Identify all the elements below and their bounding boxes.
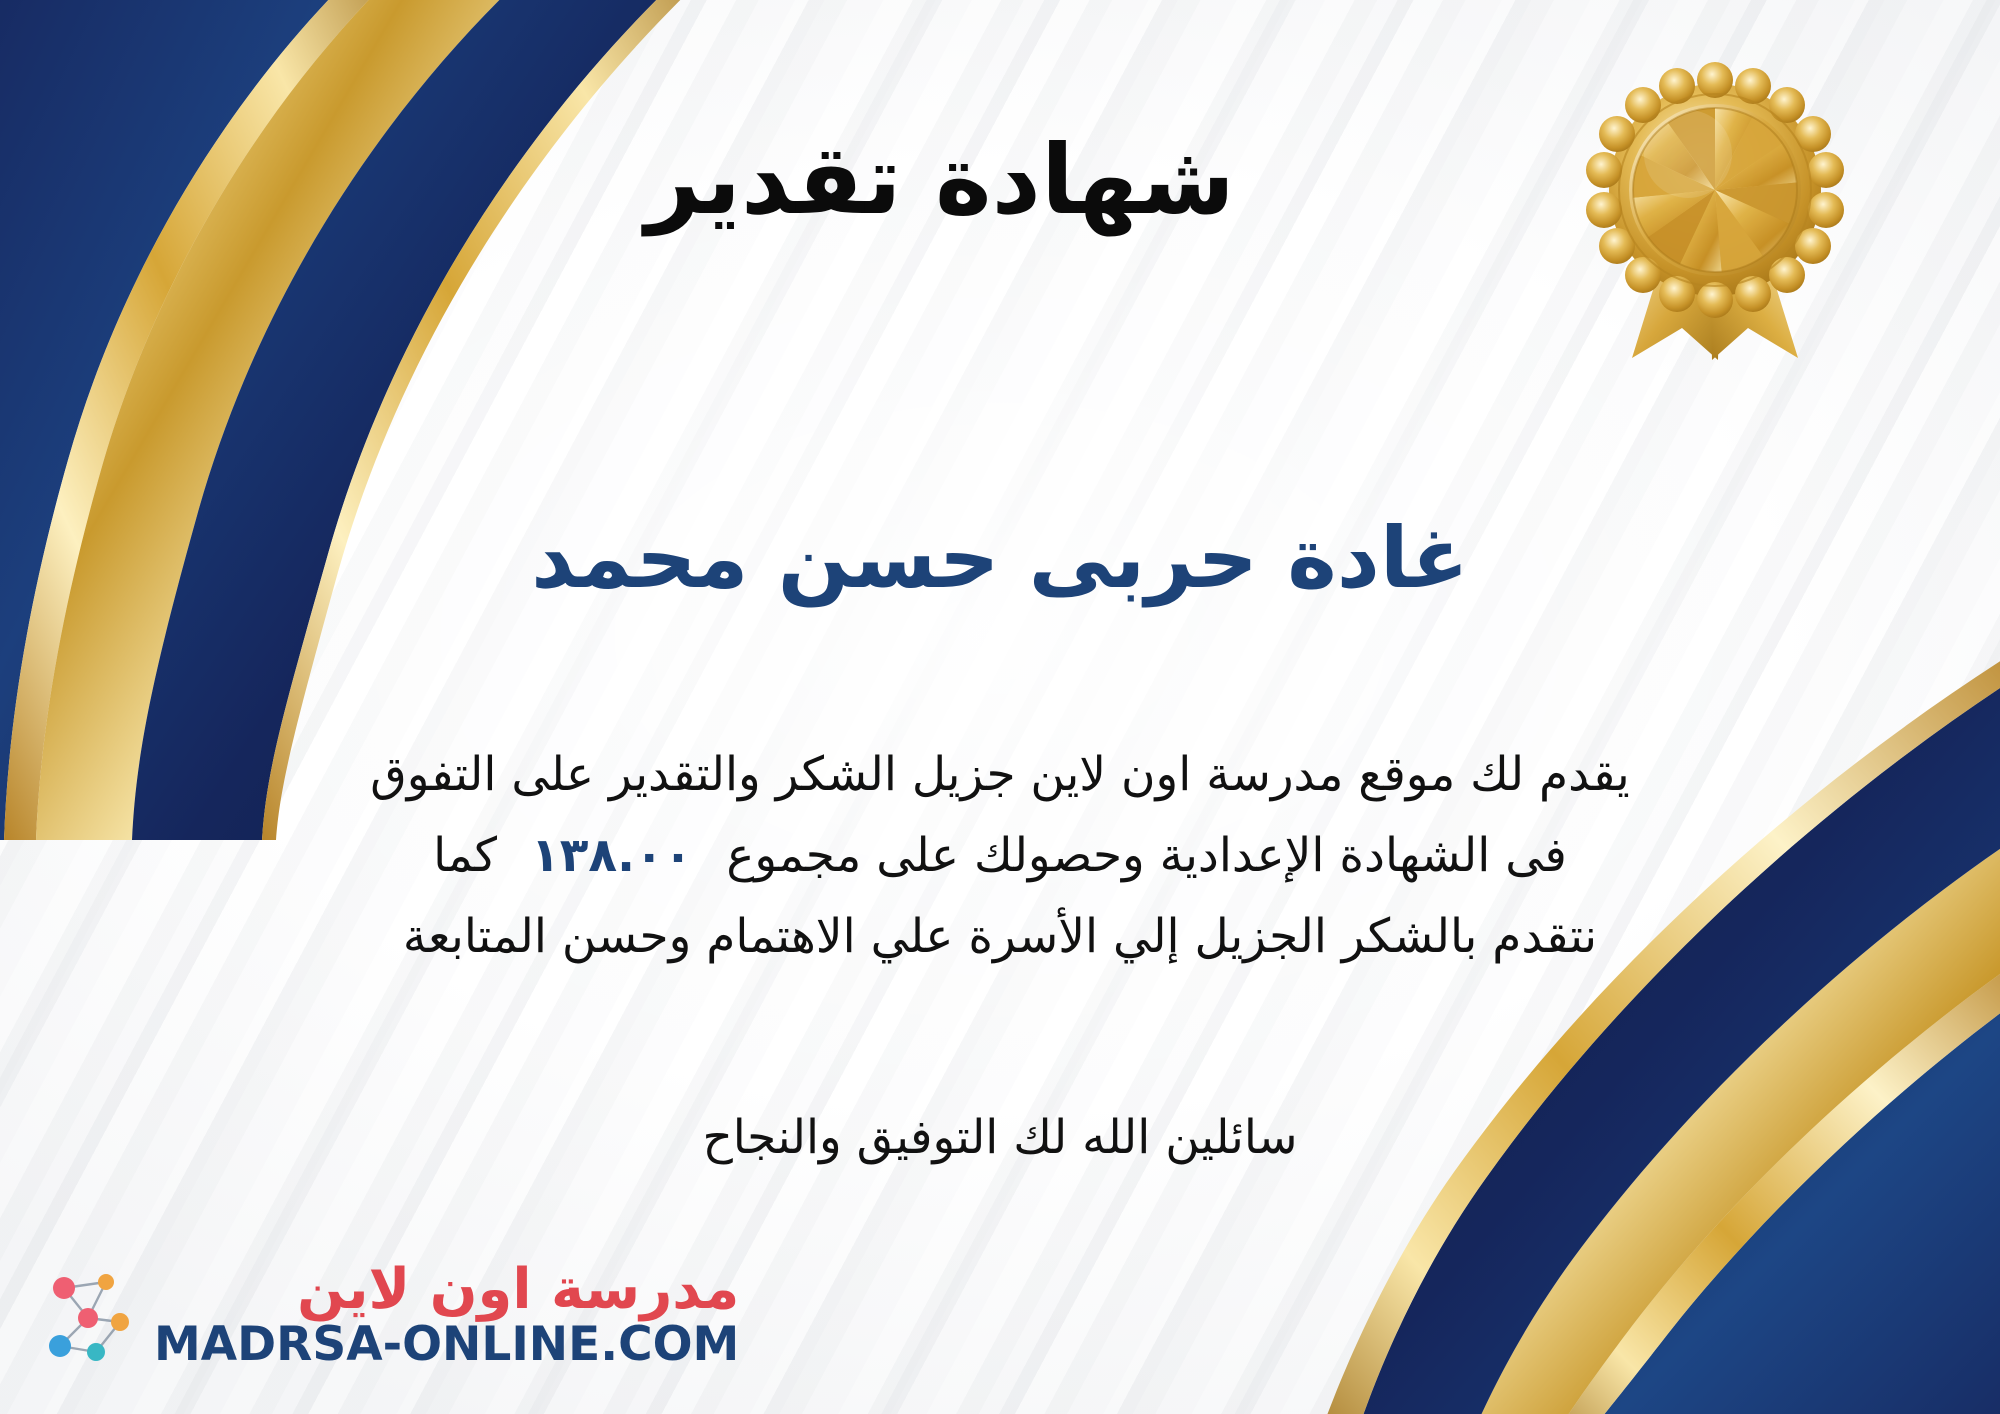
body-line-2-after: كما xyxy=(433,828,497,883)
brand-website-url: MADRSA-ONLINE.COM xyxy=(154,1320,739,1369)
body-line-1: يقدم لك موقع مدرسة اون لاين جزيل الشكر و… xyxy=(60,735,1940,816)
body-line-2: فى الشهادة الإعدادية وحصولك على مجموع١٣٨… xyxy=(60,816,1940,897)
certificate-canvas: شهادة تقدير غادة حربى حسن محمد يقدم لك م… xyxy=(0,0,2000,1414)
certificate-title: شهادة تقدير xyxy=(0,128,2000,234)
network-nodes-icon xyxy=(34,1260,144,1370)
certificate-content: شهادة تقدير غادة حربى حسن محمد يقدم لك م… xyxy=(0,0,2000,1414)
total-score-value: ١٣٨.٠٠ xyxy=(497,828,726,883)
body-line-2-before: فى الشهادة الإعدادية وحصولك على مجموع xyxy=(726,828,1567,883)
brand-text: مدرسة اون لاين MADRSA-ONLINE.COM xyxy=(154,1261,739,1369)
brand-logo[interactable]: مدرسة اون لاين MADRSA-ONLINE.COM xyxy=(34,1260,739,1370)
body-line-3: نتقدم بالشكر الجزيل إلي الأسرة علي الاهت… xyxy=(60,897,1940,978)
brand-arabic-name: مدرسة اون لاين xyxy=(297,1261,739,1320)
closing-wish: سائلين الله لك التوفيق والنجاح xyxy=(0,1110,2000,1165)
student-name: غادة حربى حسن محمد xyxy=(0,510,2000,607)
certificate-body: يقدم لك موقع مدرسة اون لاين جزيل الشكر و… xyxy=(60,735,1940,977)
